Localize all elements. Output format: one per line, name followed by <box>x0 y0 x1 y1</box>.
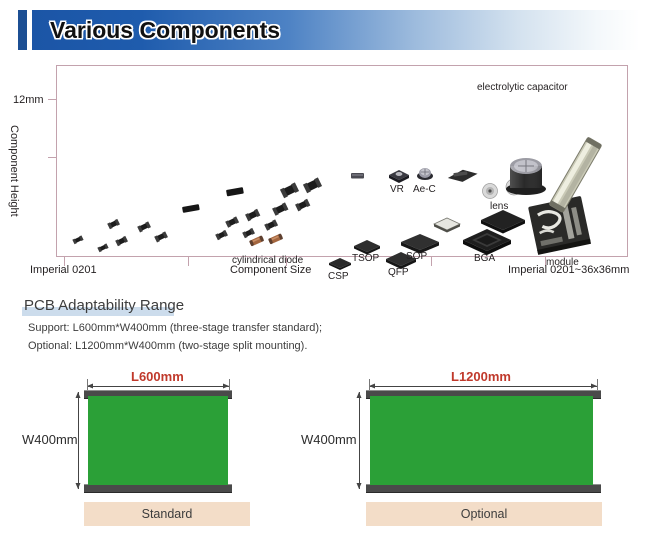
pcb-diagram-optional: L1200mm W400mm Optional <box>0 0 650 553</box>
pcb-caption-box-optional: Optional <box>366 502 602 526</box>
pcb-width-label-optional: W400mm <box>301 432 357 447</box>
pcb-side-dim-line-optional <box>359 392 360 489</box>
pcb-board-optional <box>370 396 593 485</box>
pcb-bottom-rail-optional <box>366 484 601 493</box>
pcb-length-label-optional: L1200mm <box>451 369 511 384</box>
pcb-caption-optional: Optional <box>461 507 508 521</box>
pcb-top-dim-line-optional <box>369 386 597 387</box>
